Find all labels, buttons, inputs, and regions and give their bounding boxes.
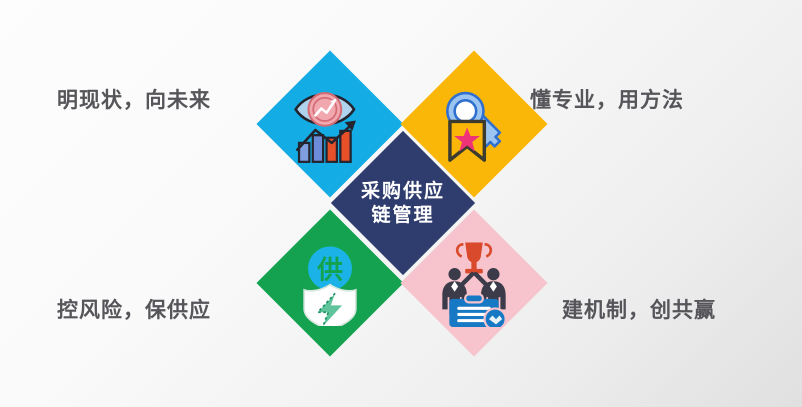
center-diamond[interactable]: 采购供应 链管理: [331, 131, 475, 275]
label-bottom-left: 控风险，保供应: [57, 294, 211, 324]
label-top-left: 明现状，向未来: [57, 84, 211, 114]
label-bottom-right: 建机制，创共赢: [562, 294, 716, 324]
center-title-line-1: 采购供应: [361, 182, 445, 201]
supply-character: 供: [316, 256, 343, 286]
center-text-wrap: 采购供应 链管理: [352, 152, 454, 254]
infographic-canvas: 供: [0, 0, 802, 407]
center-title-line-2: 链管理: [371, 206, 434, 225]
label-top-right: 懂专业，用方法: [530, 84, 684, 114]
